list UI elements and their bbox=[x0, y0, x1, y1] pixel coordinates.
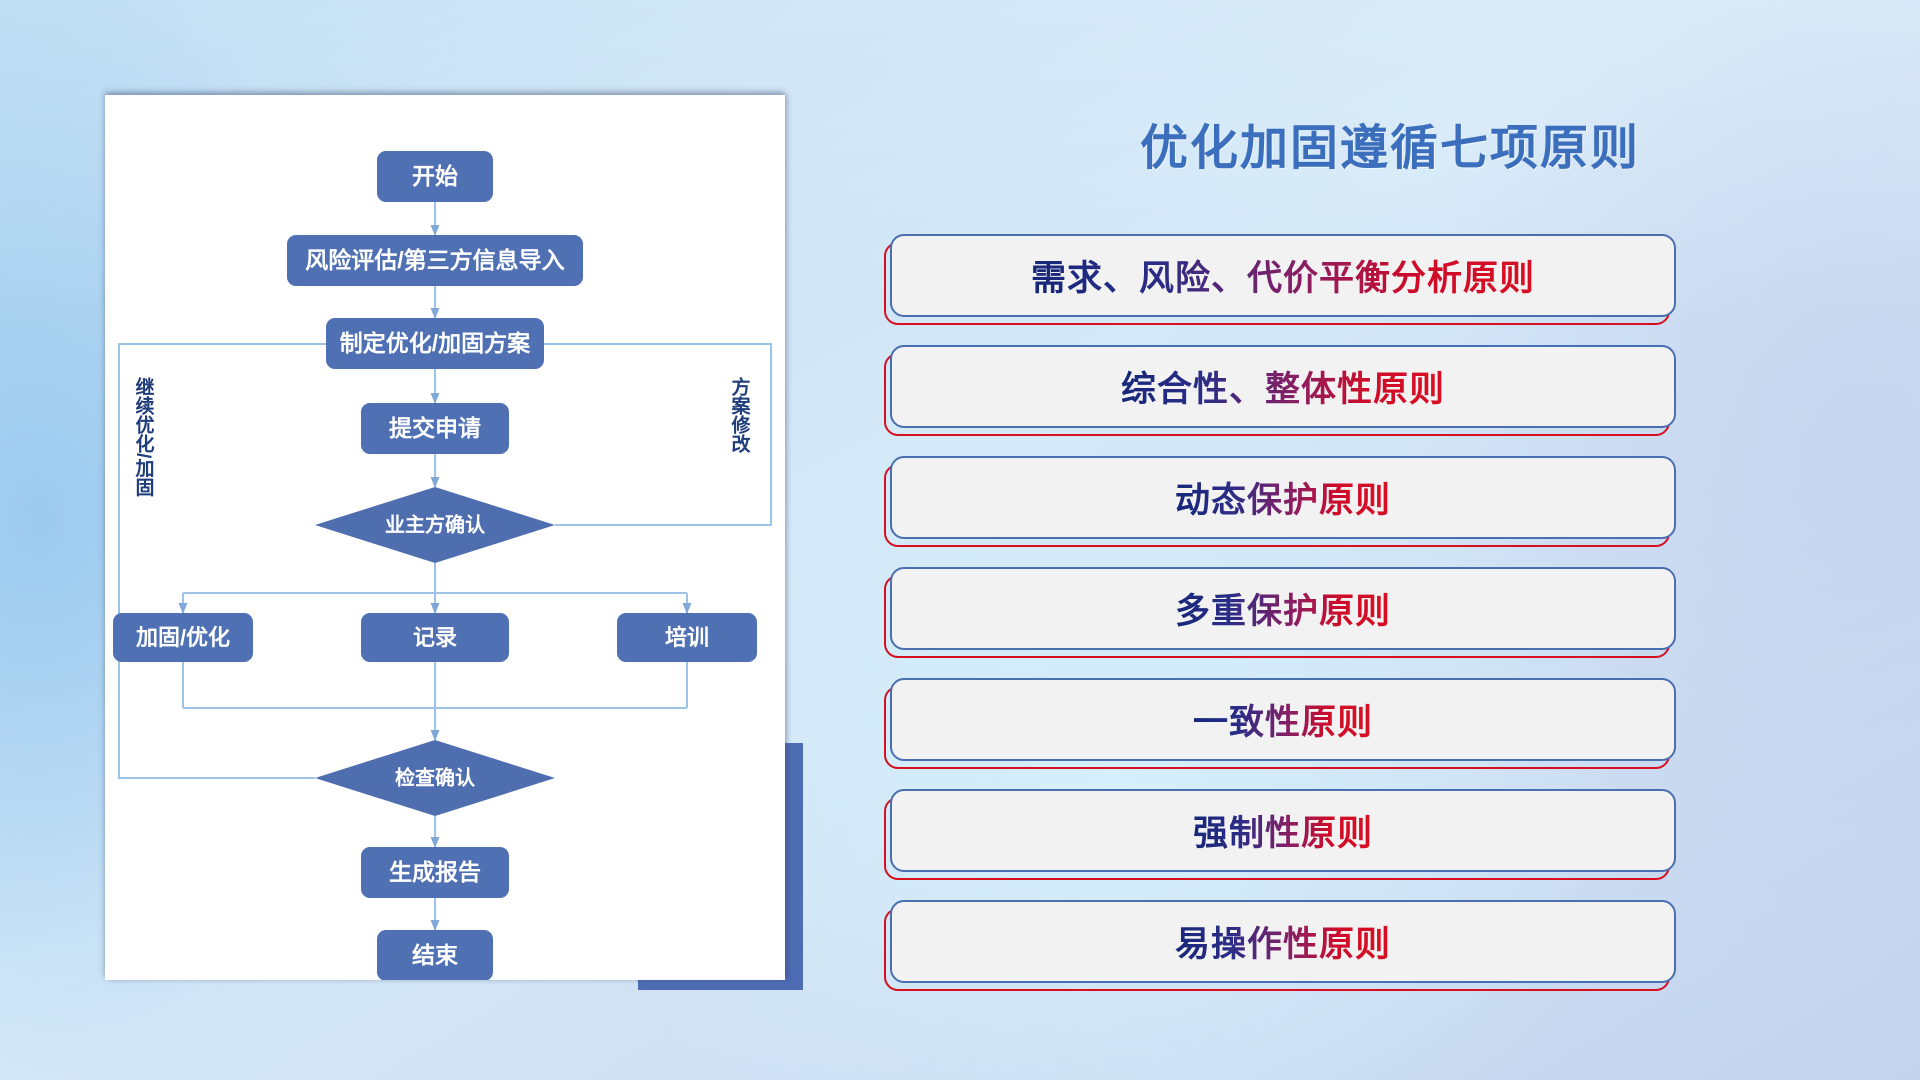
flow-node-make-plan: 制定优化/加固方案 bbox=[326, 318, 544, 369]
flow-node-generate-report-label: 生成报告 bbox=[389, 859, 481, 885]
edge-label-continue-optimize: 继续优化/加固 bbox=[133, 376, 156, 497]
flow-node-training: 培训 bbox=[617, 613, 757, 662]
principle-label-6: 强制性原则 bbox=[1193, 805, 1373, 856]
flow-node-submit-application-label: 提交申请 bbox=[389, 415, 481, 441]
principle-label-2: 综合性、整体性原则 bbox=[1121, 361, 1445, 412]
principle-card-2[interactable]: 综合性、整体性原则 bbox=[890, 345, 1676, 428]
principle-card-1[interactable]: 需求、风险、代价平衡分析原则 bbox=[890, 234, 1676, 317]
edge-label-revise-plan: 方案修改 bbox=[729, 376, 752, 454]
flow-node-training-label: 培训 bbox=[665, 625, 709, 650]
flow-node-owner-confirm-label: 业主方确认 bbox=[385, 512, 486, 536]
principle-item-3[interactable]: 动态保护原则 bbox=[860, 452, 1920, 562]
principle-item-6[interactable]: 强制性原则 bbox=[860, 785, 1920, 895]
principle-item-2[interactable]: 综合性、整体性原则 bbox=[860, 341, 1920, 451]
principle-item-7[interactable]: 易操作性原则 bbox=[860, 896, 1920, 1006]
flow-node-start-label: 开始 bbox=[412, 163, 458, 189]
flow-node-record-label: 记录 bbox=[413, 625, 457, 650]
flow-node-make-plan-label: 制定优化/加固方案 bbox=[340, 330, 531, 356]
flow-node-risk-assessment-label: 风险评估/第三方信息导入 bbox=[305, 247, 564, 273]
principle-card-3[interactable]: 动态保护原则 bbox=[890, 456, 1676, 539]
flow-node-reinforce-label: 加固/优化 bbox=[135, 625, 230, 650]
flow-node-inspect-confirm-label: 检查确认 bbox=[395, 765, 476, 789]
flow-node-start: 开始 bbox=[377, 151, 493, 202]
principles-section: 优化加固遵循七项原则 需求、风险、代价平衡分析原则 综合性、整体性原则 动态保护… bbox=[860, 0, 1920, 1080]
flow-node-reinforce: 加固/优化 bbox=[113, 613, 253, 662]
principle-card-5[interactable]: 一致性原则 bbox=[890, 678, 1676, 761]
flow-node-owner-confirm: 业主方确认 bbox=[315, 487, 555, 563]
flow-node-end-label: 结束 bbox=[412, 942, 459, 968]
principle-item-4[interactable]: 多重保护原则 bbox=[860, 563, 1920, 673]
flow-node-generate-report: 生成报告 bbox=[361, 847, 509, 898]
flow-node-submit-application: 提交申请 bbox=[361, 403, 509, 454]
principle-card-7[interactable]: 易操作性原则 bbox=[890, 900, 1676, 983]
principle-item-1[interactable]: 需求、风险、代价平衡分析原则 bbox=[860, 230, 1920, 340]
principle-card-4[interactable]: 多重保护原则 bbox=[890, 567, 1676, 650]
flowchart-diagram: 开始 风险评估/第三方信息导入 制定优化/加固方案 提交申请 业主方确认 bbox=[105, 95, 785, 980]
principle-item-5[interactable]: 一致性原则 bbox=[860, 674, 1920, 784]
principle-card-6[interactable]: 强制性原则 bbox=[890, 789, 1676, 872]
flowchart-section: 开始 风险评估/第三方信息导入 制定优化/加固方案 提交申请 业主方确认 bbox=[0, 0, 860, 1080]
principles-title: 优化加固遵循七项原则 bbox=[860, 108, 1920, 178]
flow-node-inspect-confirm: 检查确认 bbox=[315, 740, 555, 816]
flowchart-panel: 开始 风险评估/第三方信息导入 制定优化/加固方案 提交申请 业主方确认 bbox=[105, 95, 785, 980]
flow-node-end: 结束 bbox=[377, 930, 493, 980]
principle-label-7: 易操作性原则 bbox=[1175, 916, 1391, 967]
principle-label-4: 多重保护原则 bbox=[1175, 583, 1391, 634]
flow-node-risk-assessment: 风险评估/第三方信息导入 bbox=[287, 235, 583, 286]
flow-node-record: 记录 bbox=[361, 613, 509, 662]
principles-list: 需求、风险、代价平衡分析原则 综合性、整体性原则 动态保护原则 多重保护原则 一 bbox=[860, 230, 1920, 1007]
principle-label-1: 需求、风险、代价平衡分析原则 bbox=[1031, 250, 1535, 301]
principle-label-5: 一致性原则 bbox=[1193, 694, 1373, 745]
principle-label-3: 动态保护原则 bbox=[1175, 472, 1391, 523]
edge-loop-continue bbox=[119, 344, 381, 778]
